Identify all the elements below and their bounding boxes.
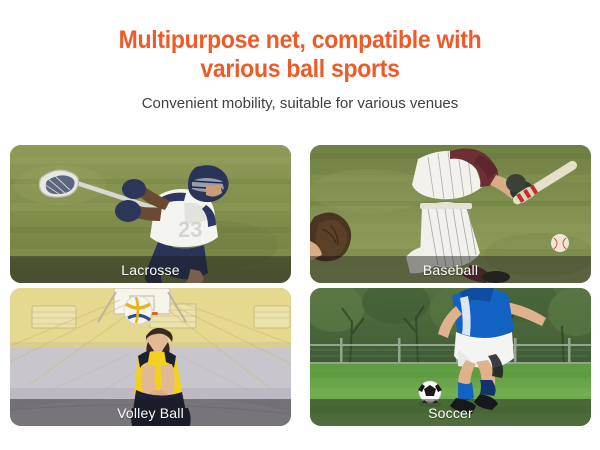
page-title: Multipurpose net, compatible with variou… [24, 0, 576, 84]
sport-panel-soccer[interactable]: Soccer [310, 288, 591, 426]
sport-panel-volleyball[interactable]: Volley Ball [10, 288, 291, 426]
panel-caption-volleyball: Volley Ball [117, 405, 184, 421]
sport-panel-lacrosse[interactable]: 23 [10, 145, 291, 283]
title-line-1: Multipurpose net, compatible with [24, 26, 576, 55]
banner-header: Multipurpose net, compatible with variou… [0, 0, 600, 113]
page-subtitle: Convenient mobility, suitable for variou… [0, 84, 600, 113]
sport-panel-baseball[interactable]: Baseball [310, 145, 591, 283]
sports-panel-grid: 23 [10, 145, 591, 426]
panel-caption-bar: Lacrosse [10, 256, 291, 283]
panel-caption-baseball: Baseball [423, 262, 478, 278]
panel-caption-bar: Soccer [310, 399, 591, 426]
title-line-2: various ball sports [24, 55, 576, 84]
promo-banner: Multipurpose net, compatible with variou… [0, 0, 600, 450]
panel-caption-soccer: Soccer [428, 405, 473, 421]
panel-caption-bar: Baseball [310, 256, 591, 283]
svg-text:23: 23 [178, 217, 202, 242]
panel-caption-bar: Volley Ball [10, 399, 291, 426]
panel-caption-lacrosse: Lacrosse [121, 262, 179, 278]
